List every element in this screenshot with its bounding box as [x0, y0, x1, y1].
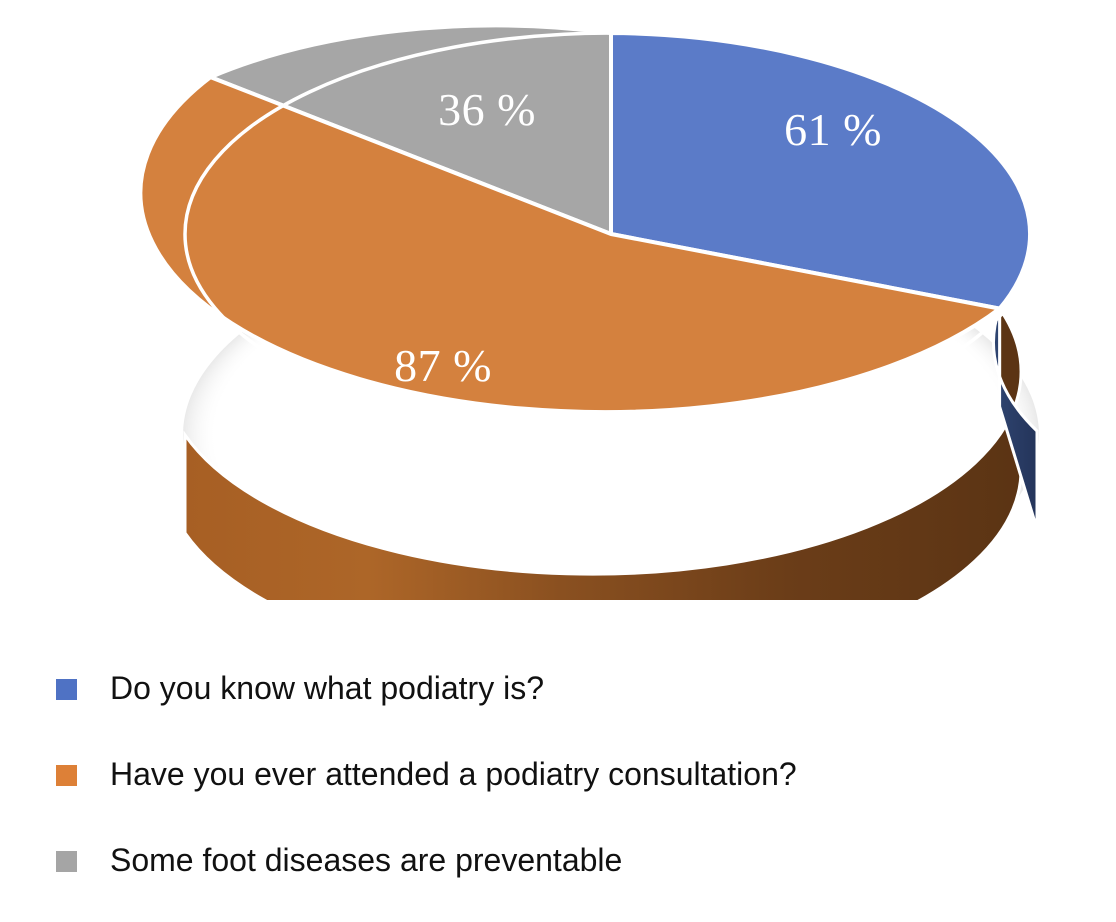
legend-swatch-orange-icon	[56, 765, 77, 786]
pie-chart-page: 61 % 87 % 36 % Do you know what podiatry…	[0, 0, 1116, 922]
legend-item-2[interactable]: Some foot diseases are preventable	[56, 818, 1056, 904]
legend-item-1[interactable]: Have you ever attended a podiatry consul…	[56, 732, 1056, 818]
chart-legend: Do you know what podiatry is? Have you e…	[56, 646, 1056, 904]
legend-label-0: Do you know what podiatry is?	[110, 671, 544, 706]
pie-chart-3d	[0, 0, 1116, 600]
data-label-blue: 61 %	[784, 107, 882, 153]
legend-swatch-gray-icon	[56, 851, 77, 872]
chart-plot-area: 61 % 87 % 36 %	[0, 0, 1116, 600]
legend-label-1: Have you ever attended a podiatry consul…	[110, 757, 797, 792]
data-label-orange: 87 %	[394, 343, 492, 389]
data-label-gray: 36 %	[438, 87, 536, 133]
legend-swatch-blue-icon	[56, 679, 77, 700]
legend-item-0[interactable]: Do you know what podiatry is?	[56, 646, 1056, 732]
legend-label-2: Some foot diseases are preventable	[110, 843, 622, 878]
